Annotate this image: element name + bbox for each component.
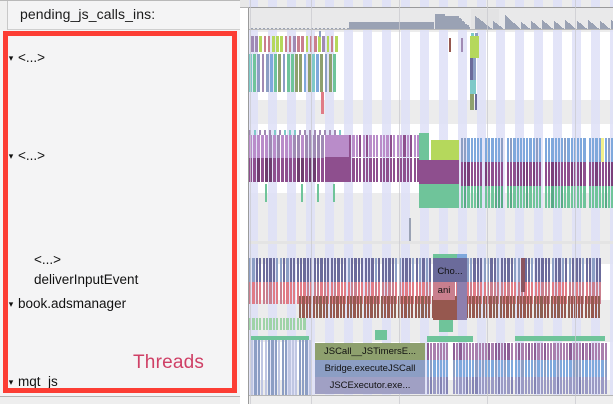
event-bar[interactable] [251,340,253,396]
event-bar[interactable] [507,162,509,186]
event-bar[interactable] [528,343,530,360]
event-bar[interactable] [263,318,265,330]
event-bar[interactable] [545,162,547,186]
event-bar[interactable] [557,360,559,377]
event-bar[interactable] [293,158,296,182]
event-bar[interactable] [595,162,597,186]
event-bar[interactable] [283,318,285,330]
event-bar[interactable] [303,318,305,330]
event-bar[interactable] [558,162,560,186]
event-bar[interactable] [581,296,583,318]
chevron-down-icon[interactable]: ▾ [4,294,18,314]
event-bar[interactable] [579,360,581,377]
event-bar[interactable] [567,162,569,186]
event-bar[interactable] [555,138,557,162]
event-bar[interactable] [262,54,265,92]
event-bar[interactable] [427,360,429,377]
event-bar[interactable] [547,343,549,360]
event-bar[interactable] [525,343,527,360]
event-bar[interactable] [585,377,587,394]
event-bar[interactable] [387,296,389,318]
event-bar[interactable] [474,138,476,162]
event-bar[interactable] [576,343,578,360]
event-bar[interactable] [292,340,294,396]
event-bar[interactable] [350,296,352,318]
event-bar[interactable] [496,296,498,318]
event-bar[interactable] [459,360,461,377]
event-bar[interactable] [289,36,292,52]
event-bar[interactable] [293,36,296,52]
event-bar[interactable] [557,377,559,394]
event-bar[interactable] [333,296,335,318]
event-bar[interactable] [527,296,529,318]
event-bar[interactable] [394,296,396,318]
event-bar[interactable] [525,360,527,377]
event-bar[interactable] [433,343,435,360]
event-bar[interactable] [507,186,509,208]
event-bar[interactable] [583,138,585,162]
event-bar[interactable] [482,360,484,377]
event-bar[interactable] [564,138,566,162]
event-bar[interactable] [356,135,358,157]
event-bar[interactable] [477,138,479,162]
block-jscall-jstimers[interactable]: JSCall__JSTimersE... [315,343,425,360]
event-bar[interactable] [288,340,290,396]
event-bar[interactable] [471,186,473,208]
event-bar[interactable] [290,282,292,304]
event-bar[interactable] [261,158,264,182]
event-bar[interactable] [595,296,597,318]
event-bar[interactable] [316,54,319,92]
event-bar[interactable] [449,38,451,52]
event-bar[interactable] [591,296,593,318]
event-bar[interactable] [461,186,463,208]
event-bar[interactable] [466,377,468,394]
event-bar[interactable] [366,135,368,157]
event-bar[interactable] [501,377,503,394]
event-bar[interactable] [464,186,466,208]
event-bar[interactable] [269,158,272,182]
event-bar[interactable] [289,158,292,182]
event-bar[interactable] [491,138,493,162]
event-bar[interactable] [427,377,429,394]
event-bar[interactable] [488,138,490,162]
event-bar[interactable] [577,138,579,162]
event-bar[interactable] [569,377,571,394]
event-bar[interactable] [501,343,503,360]
event-bar[interactable] [534,343,536,360]
event-bar[interactable] [539,186,541,208]
event-bar[interactable] [547,377,549,394]
event-bar[interactable] [582,343,584,360]
event-bar[interactable] [456,360,458,377]
event-bar[interactable] [280,36,283,52]
flame-block[interactable] [439,320,453,332]
event-bar[interactable] [285,340,287,396]
event-bar[interactable] [515,377,517,394]
event-bar[interactable] [302,340,304,396]
event-bar[interactable] [521,258,525,292]
event-bar[interactable] [469,360,471,377]
event-bar[interactable] [357,296,359,318]
event-bar[interactable] [297,158,300,182]
event-bar[interactable] [446,377,448,394]
event-bar[interactable] [322,36,325,52]
event-bar[interactable] [373,158,375,182]
event-bar[interactable] [577,162,579,186]
event-bar[interactable] [467,186,469,208]
event-bar[interactable] [464,138,466,162]
event-bar[interactable] [601,343,603,360]
event-bar[interactable] [306,296,308,318]
event-bar[interactable] [386,135,388,157]
chevron-down-icon[interactable]: ▾ [4,372,18,392]
event-bar[interactable] [286,282,288,304]
event-bar[interactable] [301,158,304,182]
event-bar[interactable] [400,135,402,157]
event-bar[interactable] [571,138,573,162]
event-bar[interactable] [418,296,420,318]
event-bar[interactable] [537,360,539,377]
event-bar[interactable] [264,36,267,52]
event-bar[interactable] [433,377,435,394]
event-bar[interactable] [380,158,382,182]
event-bar[interactable] [295,54,298,92]
tree-row[interactable]: <...> [20,250,61,270]
event-bar[interactable] [521,377,523,394]
event-bar[interactable] [353,296,355,318]
event-bar[interactable] [280,282,282,304]
event-bar[interactable] [277,158,280,182]
event-bar[interactable] [504,377,506,394]
event-bar[interactable] [503,296,505,318]
event-bar[interactable] [453,377,455,394]
event-bar[interactable] [539,162,541,186]
event-bar[interactable] [566,343,568,360]
event-bar[interactable] [583,162,585,186]
event-bar[interactable] [293,318,295,330]
event-bar[interactable] [564,162,566,186]
event-bar[interactable] [440,377,442,394]
event-bar[interactable] [495,377,497,394]
event-bar[interactable] [312,54,315,92]
event-bar[interactable] [472,377,474,394]
event-bar[interactable] [257,158,260,182]
event-bar[interactable] [564,186,566,208]
event-bar[interactable] [521,343,523,360]
event-bar[interactable] [536,138,538,162]
event-bar[interactable] [557,343,559,360]
event-bar[interactable] [281,158,284,182]
event-bar[interactable] [592,343,594,360]
event-bar[interactable] [266,282,268,304]
event-bar[interactable] [537,296,539,318]
event-bar[interactable] [469,343,471,360]
event-bar[interactable] [360,296,362,318]
event-bar[interactable] [280,318,282,330]
event-bar[interactable] [551,186,553,208]
event-bar[interactable] [290,318,292,330]
event-bar[interactable] [302,296,304,318]
event-bar[interactable] [537,377,539,394]
event-bar[interactable] [440,343,442,360]
event-bar[interactable] [377,296,379,318]
event-bar[interactable] [367,296,369,318]
event-bar[interactable] [305,158,308,182]
event-bar[interactable] [523,296,525,318]
event-bar[interactable] [518,343,520,360]
event-bar[interactable] [528,377,530,394]
event-bar[interactable] [506,296,508,318]
event-bar[interactable] [605,343,607,360]
event-bar[interactable] [252,318,254,330]
event-bar[interactable] [558,138,560,162]
event-bar[interactable] [495,343,497,360]
event-bar[interactable] [376,135,378,157]
event-bar[interactable] [410,158,412,182]
event-bar[interactable] [592,138,594,162]
event-bar[interactable] [589,186,591,208]
event-bar[interactable] [553,343,555,360]
event-bar[interactable] [320,54,323,92]
event-bar[interactable] [598,360,600,377]
event-bar[interactable] [571,296,573,318]
event-bar[interactable] [537,343,539,360]
event-bar[interactable] [408,296,410,318]
event-bar[interactable] [544,296,546,318]
event-bar[interactable] [470,94,474,110]
event-bar[interactable] [511,343,513,360]
event-bar[interactable] [564,296,566,318]
event-bar[interactable] [513,296,515,318]
event-bar[interactable] [595,377,597,394]
event-bar[interactable] [475,343,477,360]
event-bar[interactable] [313,158,316,182]
event-bar[interactable] [430,343,432,360]
event-bar[interactable] [384,296,386,318]
event-bar[interactable] [461,162,463,186]
thread-tree[interactable]: ▾<...>▾<...><...>deliverInputEvent▾book.… [0,30,240,404]
event-bar[interactable] [304,54,307,92]
event-bar[interactable] [515,343,517,360]
event-bar[interactable] [592,186,594,208]
event-bar[interactable] [453,360,455,377]
event-bar[interactable] [531,360,533,377]
chevron-down-icon[interactable]: ▾ [4,146,18,166]
event-bar[interactable] [407,135,409,157]
event-bar[interactable] [276,36,279,52]
flame-block[interactable] [457,282,467,320]
event-bar[interactable] [504,360,506,377]
tree-row[interactable]: ▾mqt_js [4,372,58,392]
event-bar[interactable] [550,377,552,394]
event-bar[interactable] [297,318,299,330]
event-bar[interactable] [561,138,563,162]
event-bar[interactable] [269,318,271,330]
event-bar[interactable] [577,186,579,208]
event-bar[interactable] [510,162,512,186]
event-bar[interactable] [536,186,538,208]
event-bar[interactable] [595,138,597,162]
event-bar[interactable] [274,54,277,92]
event-bar[interactable] [523,138,525,162]
event-bar[interactable] [469,377,471,394]
event-bar[interactable] [411,296,413,318]
event-bar[interactable] [414,158,416,182]
event-bar[interactable] [437,377,439,394]
event-bar[interactable] [363,135,365,157]
event-bar[interactable] [595,360,597,377]
event-bar[interactable] [582,377,584,394]
event-bar[interactable] [475,360,477,377]
event-bar[interactable] [608,186,610,208]
event-bar[interactable] [510,296,512,318]
block-choreographer[interactable]: Cho... [433,262,467,282]
event-bar[interactable] [323,296,325,318]
event-bar[interactable] [390,135,392,157]
event-bar[interactable] [259,318,261,330]
event-bar[interactable] [491,343,493,360]
event-bar[interactable] [551,162,553,186]
event-bar[interactable] [381,296,383,318]
event-bar[interactable] [285,36,288,52]
event-bar[interactable] [343,296,345,318]
event-bar[interactable] [421,296,423,318]
event-bar[interactable] [464,162,466,186]
event-bar[interactable] [363,158,365,182]
event-bar[interactable] [333,54,336,92]
event-bar[interactable] [285,158,288,182]
event-bar[interactable] [383,158,385,182]
event-bar[interactable] [515,336,605,341]
event-bar[interactable] [299,340,301,396]
event-bar[interactable] [511,360,513,377]
event-bar[interactable] [605,186,607,208]
event-bar[interactable] [592,360,594,377]
event-bar[interactable] [498,162,500,186]
event-bar[interactable] [488,360,490,377]
event-bar[interactable] [319,296,321,318]
event-bar[interactable] [479,343,481,360]
event-bar[interactable] [467,138,469,162]
event-bar[interactable] [534,296,536,318]
event-bar[interactable] [498,377,500,394]
counter-track-header-row[interactable]: pending_js_calls_ins: [0,0,240,30]
flame-block[interactable] [419,184,459,208]
event-bar[interactable] [544,343,546,360]
event-bar[interactable] [589,343,591,360]
event-bar[interactable] [558,186,560,208]
event-bar[interactable] [501,162,503,186]
event-bar[interactable] [513,162,515,186]
event-bar[interactable] [475,377,477,394]
event-bar[interactable] [470,36,479,58]
event-bar[interactable] [530,296,532,318]
event-bar[interactable] [517,162,519,186]
event-bar[interactable] [544,377,546,394]
event-bar[interactable] [589,377,591,394]
event-bar[interactable] [271,340,273,396]
event-bar[interactable] [283,54,286,92]
event-bar[interactable] [461,138,463,162]
event-bar[interactable] [489,296,491,318]
event-bar[interactable] [548,186,550,208]
event-bar[interactable] [526,138,528,162]
event-bar[interactable] [551,138,553,162]
event-bar[interactable] [325,54,328,92]
event-bar[interactable] [488,377,490,394]
event-bar[interactable] [453,343,455,360]
event-bar[interactable] [507,377,509,394]
event-bar[interactable] [495,138,497,162]
event-bar[interactable] [588,296,590,318]
event-bar[interactable] [326,296,328,318]
event-bar[interactable] [461,38,463,52]
event-bar[interactable] [520,162,522,186]
event-bar[interactable] [446,360,448,377]
event-bar[interactable] [251,36,254,52]
block-jscexecutor-execute[interactable]: JSCExecutor.exe... [315,377,425,394]
event-bar[interactable] [252,282,254,304]
event-bar[interactable] [265,340,267,396]
event-bar[interactable] [576,360,578,377]
event-bar[interactable] [608,138,610,162]
event-bar[interactable] [579,377,581,394]
event-bar[interactable] [467,162,469,186]
event-bar[interactable] [529,162,531,186]
event-bar[interactable] [366,158,368,182]
event-bar[interactable] [566,360,568,377]
event-bar[interactable] [582,360,584,377]
flame-block[interactable] [419,138,429,160]
event-bar[interactable] [526,186,528,208]
event-bar[interactable] [534,360,536,377]
event-bar[interactable] [347,296,349,318]
event-bar[interactable] [568,296,570,318]
event-bar[interactable] [317,184,319,202]
event-bar[interactable] [476,296,478,318]
event-bar[interactable] [463,343,465,360]
event-bar[interactable] [276,282,278,304]
event-bar[interactable] [501,186,503,208]
event-bar[interactable] [393,135,395,157]
event-bar[interactable] [410,135,412,157]
event-bar[interactable] [563,360,565,377]
event-bar[interactable] [605,162,607,186]
event-bar[interactable] [545,186,547,208]
event-bar[interactable] [480,186,482,208]
event-bar[interactable] [547,360,549,377]
event-bar[interactable] [318,36,321,52]
event-bar[interactable] [521,360,523,377]
event-bar[interactable] [400,158,402,182]
event-bar[interactable] [477,186,479,208]
event-bar[interactable] [585,343,587,360]
event-bar[interactable] [555,162,557,186]
event-bar[interactable] [430,377,432,394]
event-bar[interactable] [547,296,549,318]
event-bar[interactable] [273,282,275,304]
event-bar[interactable] [541,377,543,394]
event-bar[interactable] [474,186,476,208]
event-bar[interactable] [520,186,522,208]
event-bar[interactable] [550,360,552,377]
event-bar[interactable] [598,377,600,394]
event-bar[interactable] [479,360,481,377]
event-bar[interactable] [268,340,270,396]
event-bar[interactable] [255,36,258,52]
event-bar[interactable] [469,296,471,318]
